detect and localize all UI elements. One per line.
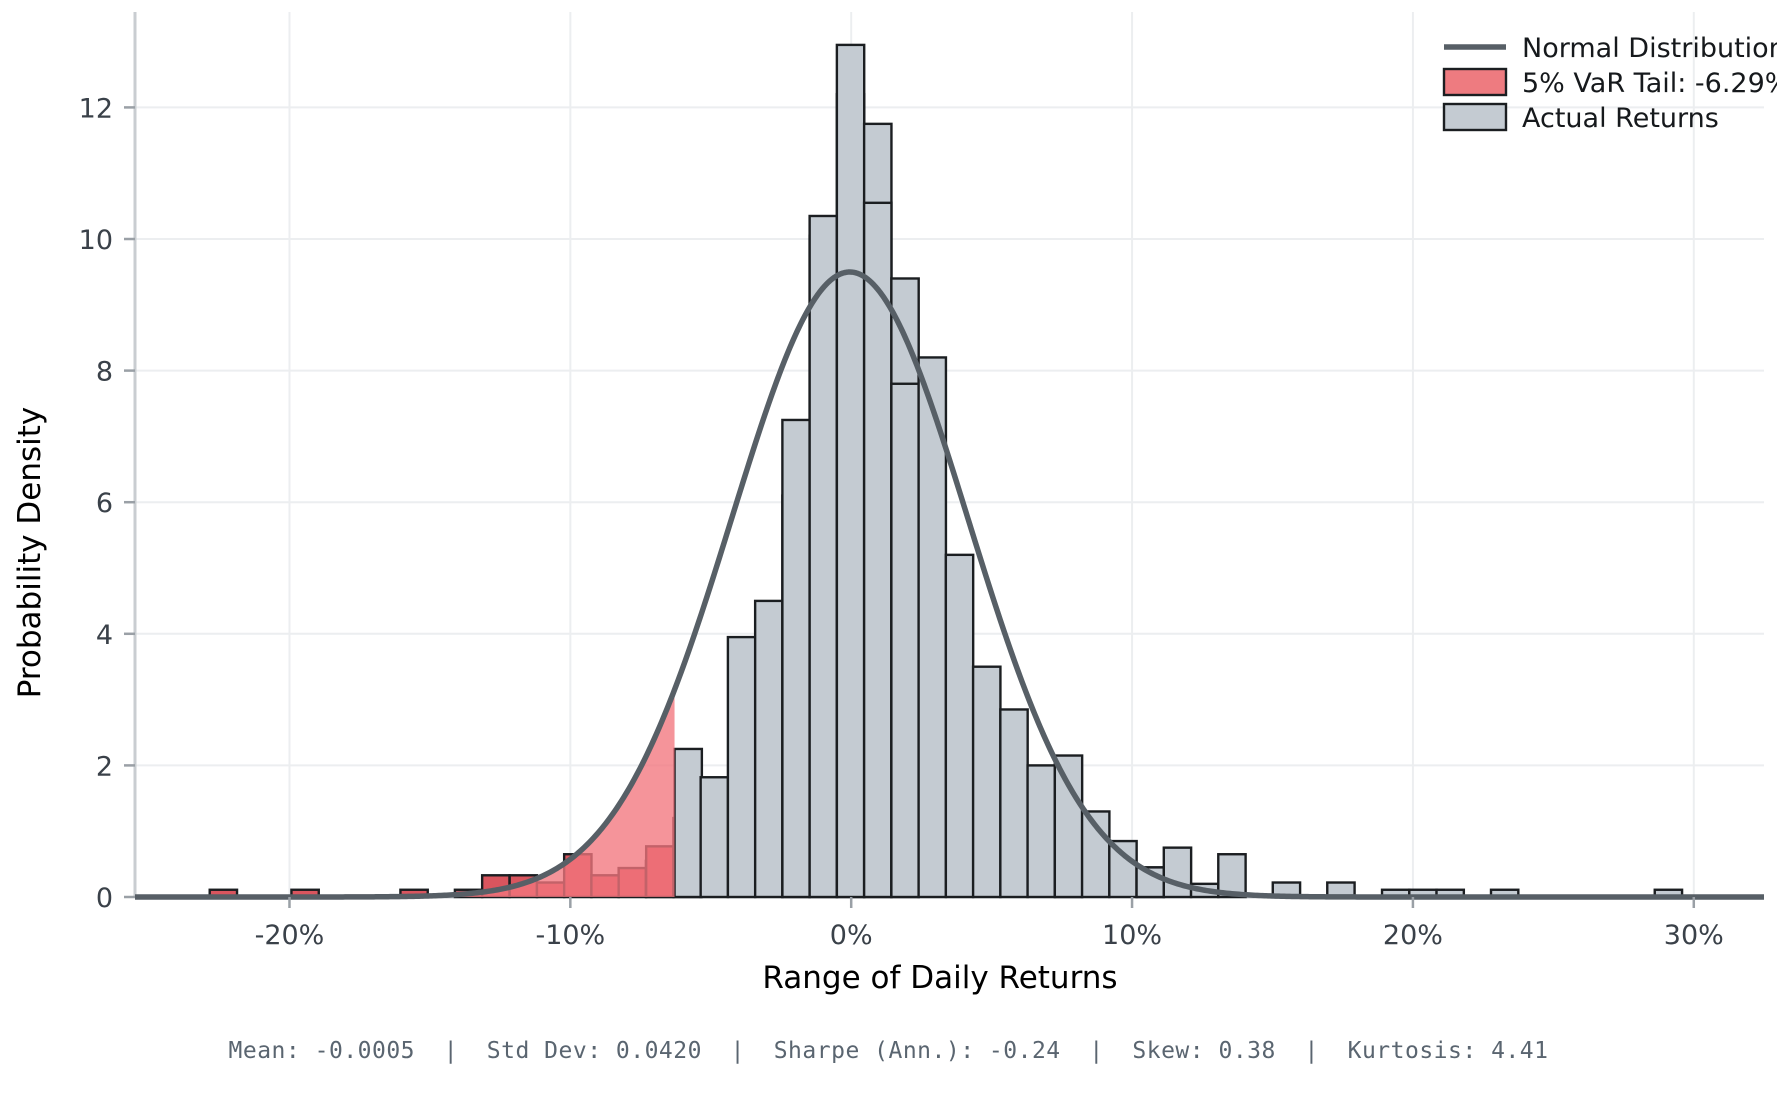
legend-patch-swatch — [1444, 69, 1506, 95]
legend: Normal Distribution5% VaR Tail: -6.29%Ac… — [1444, 33, 1777, 134]
histogram-bar — [810, 216, 837, 897]
histogram-figure: -20%-10%0%10%20%30% 024681012 Normal Dis… — [0, 0, 1777, 1105]
x-axis-ticks: -20%-10%0%10%20%30% — [255, 897, 1724, 951]
histogram-bar — [675, 749, 702, 897]
plot-canvas: -20%-10%0%10%20%30% 024681012 Normal Dis… — [0, 0, 1777, 1105]
histogram-bar — [891, 384, 918, 897]
y-tick-label: 0 — [96, 883, 113, 914]
x-tick-label: 0% — [830, 920, 873, 951]
y-tick-label: 4 — [96, 620, 113, 651]
histogram-bar — [946, 555, 973, 897]
x-axis-label: Range of Daily Returns — [150, 960, 1730, 996]
histogram-bar — [755, 601, 782, 897]
histogram-bar — [1055, 756, 1082, 897]
y-axis-label: Probability Density — [6, 0, 54, 1105]
x-tick-label: -20% — [255, 920, 325, 951]
legend-patch-swatch — [1444, 104, 1506, 130]
histogram-bar — [728, 637, 755, 897]
histogram-bar — [1109, 841, 1136, 897]
histogram-bar — [701, 777, 728, 897]
x-tick-label: 30% — [1664, 920, 1724, 951]
histogram-bar — [782, 420, 809, 897]
legend-label: Actual Returns — [1522, 103, 1719, 134]
histogram-bar — [973, 667, 1000, 897]
var-tail-area — [135, 690, 675, 897]
x-tick-label: -10% — [535, 920, 605, 951]
summary-statistics-line: Mean: -0.0005 | Std Dev: 0.0420 | Sharpe… — [0, 1038, 1777, 1064]
y-tick-label: 10 — [79, 225, 113, 256]
histogram-bars — [210, 45, 1682, 897]
y-tick-label: 8 — [96, 357, 113, 388]
legend-label: 5% VaR Tail: -6.29% — [1522, 68, 1777, 99]
histogram-bar — [1164, 848, 1191, 897]
x-tick-label: 20% — [1383, 920, 1443, 951]
legend-label: Normal Distribution — [1522, 33, 1777, 64]
histogram-bar — [1028, 765, 1055, 897]
y-tick-label: 12 — [79, 93, 113, 124]
y-tick-label: 6 — [96, 488, 113, 519]
x-tick-label: 10% — [1102, 920, 1162, 951]
histogram-bar — [1000, 709, 1027, 897]
y-tick-label: 2 — [96, 751, 113, 782]
y-axis-ticks: 024681012 — [79, 93, 135, 914]
histogram-bar — [837, 45, 864, 897]
